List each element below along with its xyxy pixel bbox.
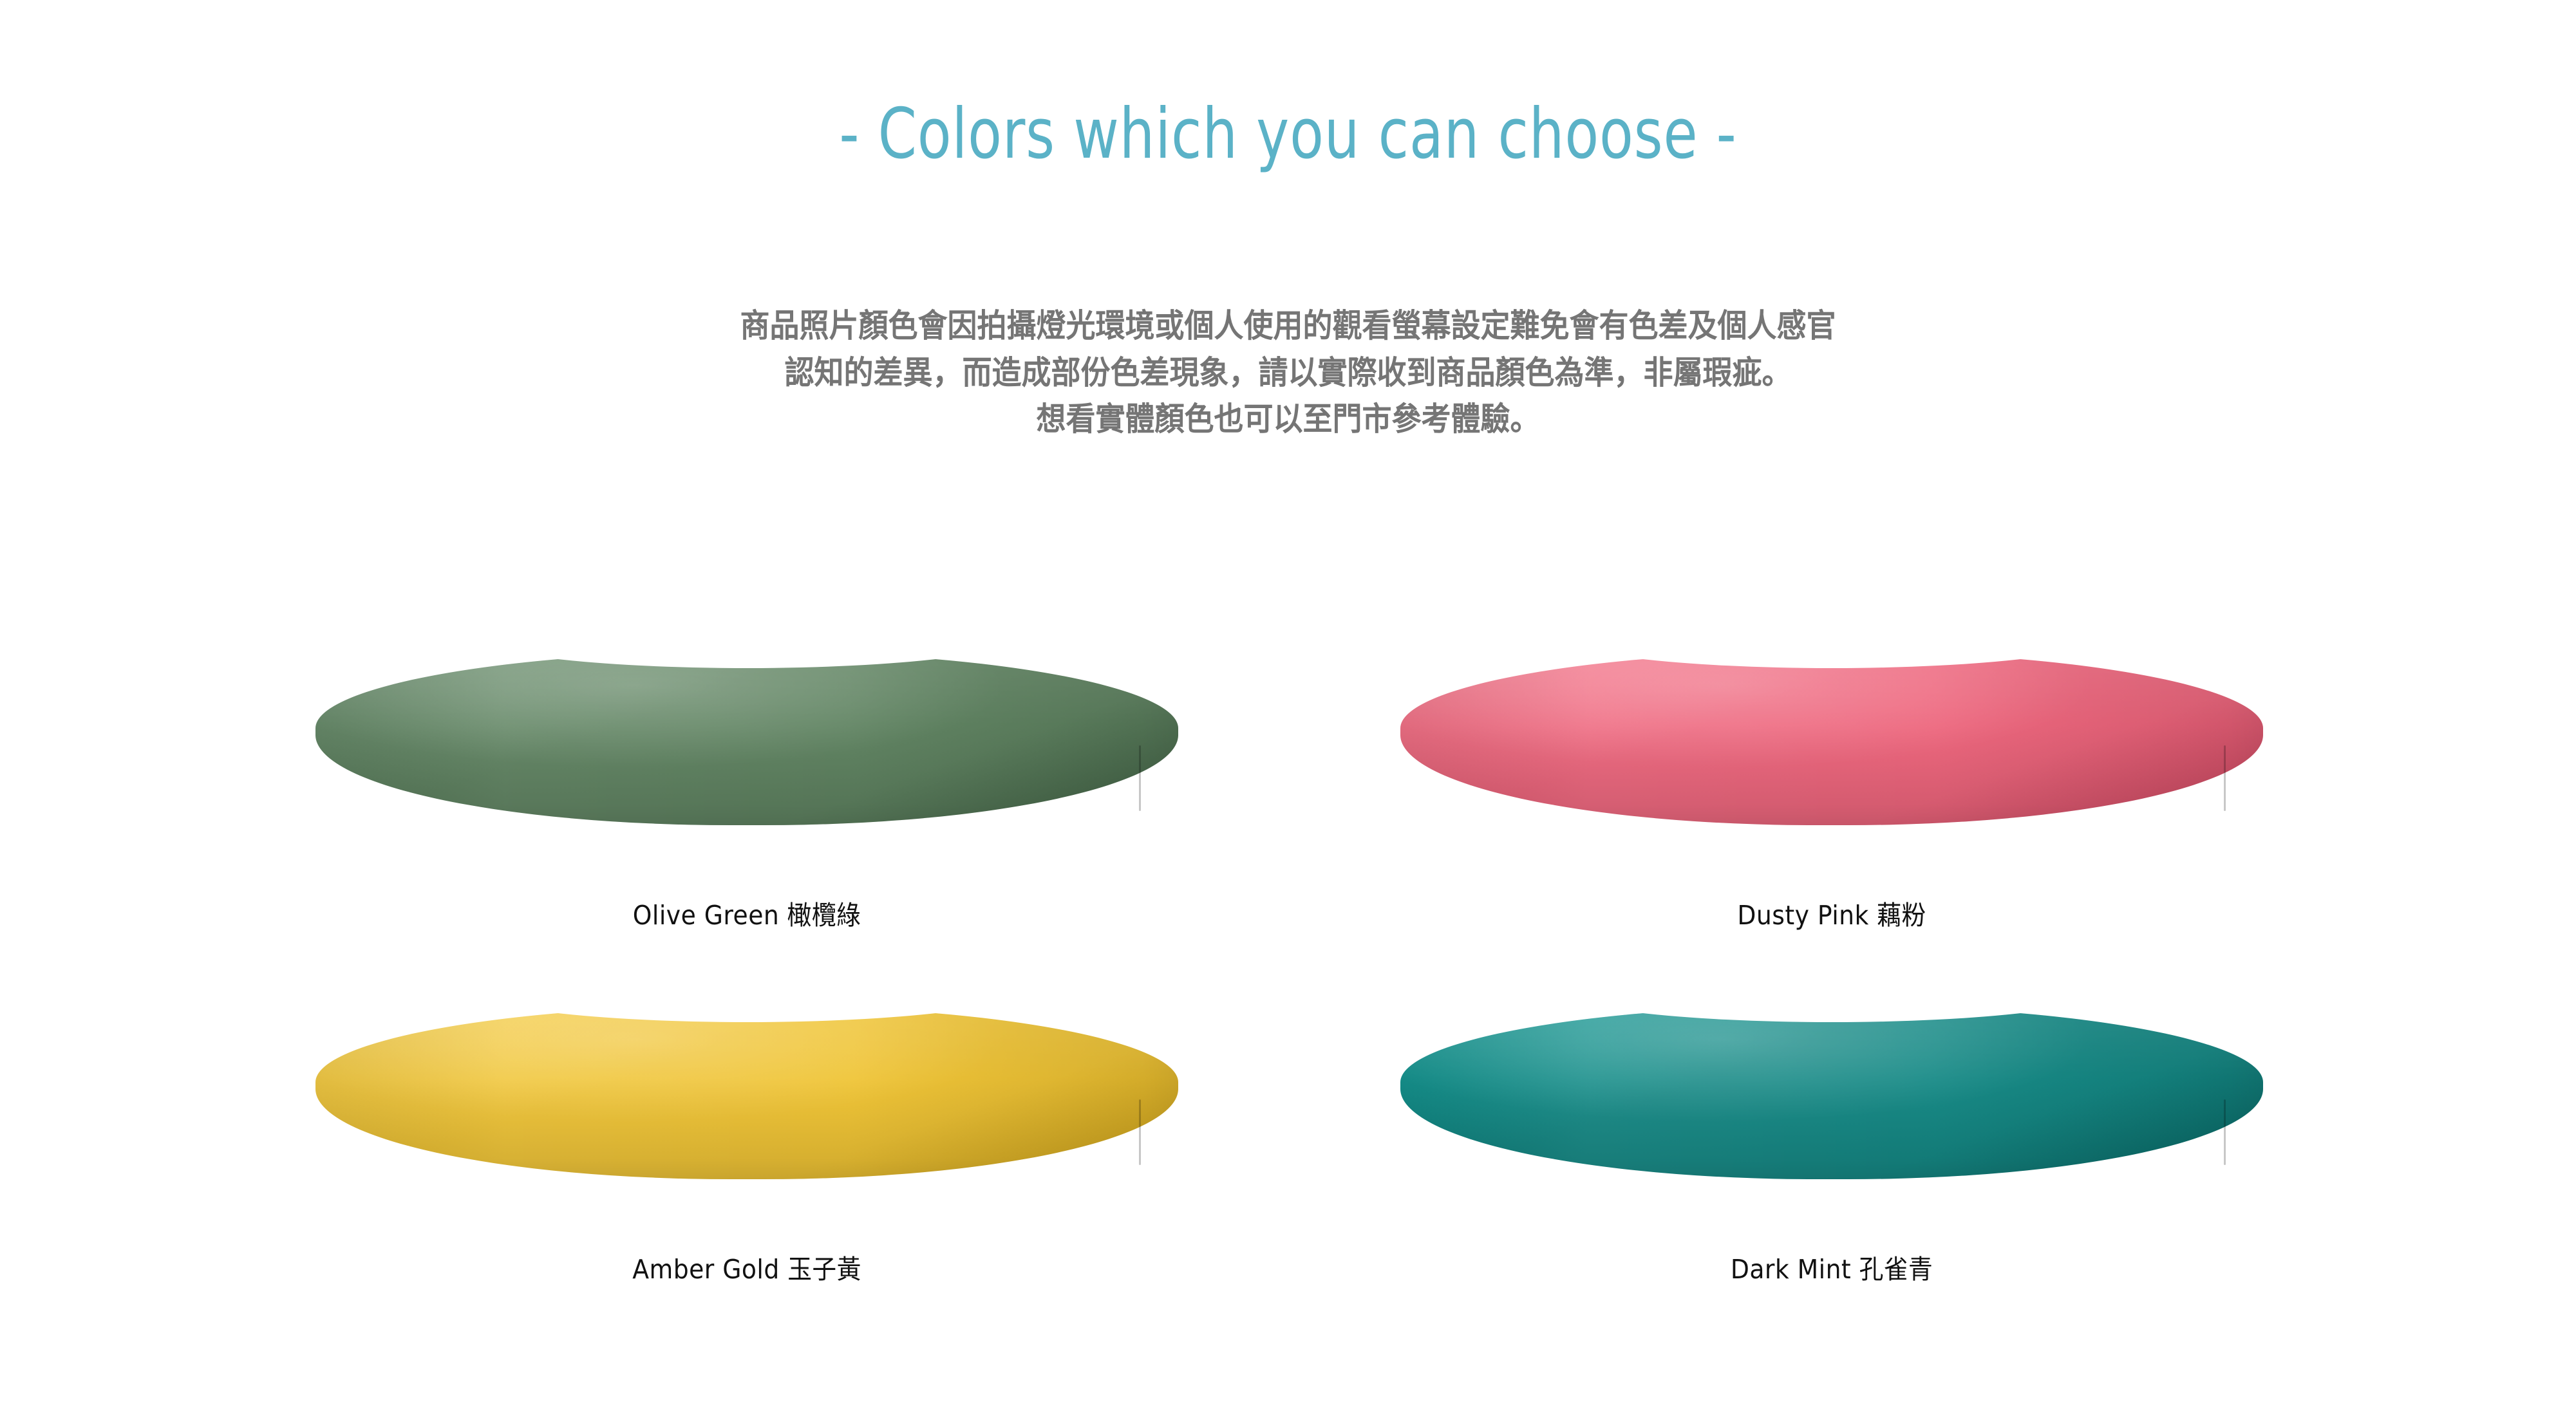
cushion-body <box>1400 1005 2263 1179</box>
cushion-image-dusty-pink[interactable] <box>1400 651 2263 825</box>
cushion-seam <box>1139 1099 1141 1166</box>
color-swatch-grid: Olive Green 橄欖綠 Dusty Pink 藕粉 Amber Gold… <box>0 0 2576 1409</box>
color-swatch-amber-gold[interactable] <box>315 1005 1178 1179</box>
color-swatch-olive-green[interactable] <box>315 651 1178 825</box>
color-label-amber-gold: Amber Gold 玉子黃 <box>350 1247 1144 1286</box>
color-label-dark-mint: Dark Mint 孔雀青 <box>1435 1247 2229 1286</box>
cushion-image-olive-green[interactable] <box>315 651 1178 825</box>
cushion-body <box>315 1005 1178 1179</box>
cushion-image-dark-mint[interactable] <box>1400 1005 2263 1179</box>
cushion-image-amber-gold[interactable] <box>315 1005 1178 1179</box>
color-swatch-dusty-pink[interactable] <box>1400 651 2263 825</box>
cushion-body <box>315 651 1178 825</box>
cushion-seam <box>2224 745 2226 812</box>
color-swatch-dark-mint[interactable] <box>1400 1005 2263 1179</box>
cushion-seam <box>1139 745 1141 812</box>
color-options-page: - Colors which you can choose - 商品照片顏色會因… <box>0 0 2576 1409</box>
color-label-dusty-pink: Dusty Pink 藕粉 <box>1435 893 2229 932</box>
cushion-seam <box>2224 1099 2226 1166</box>
cushion-body <box>1400 651 2263 825</box>
color-label-olive-green: Olive Green 橄欖綠 <box>350 893 1144 932</box>
